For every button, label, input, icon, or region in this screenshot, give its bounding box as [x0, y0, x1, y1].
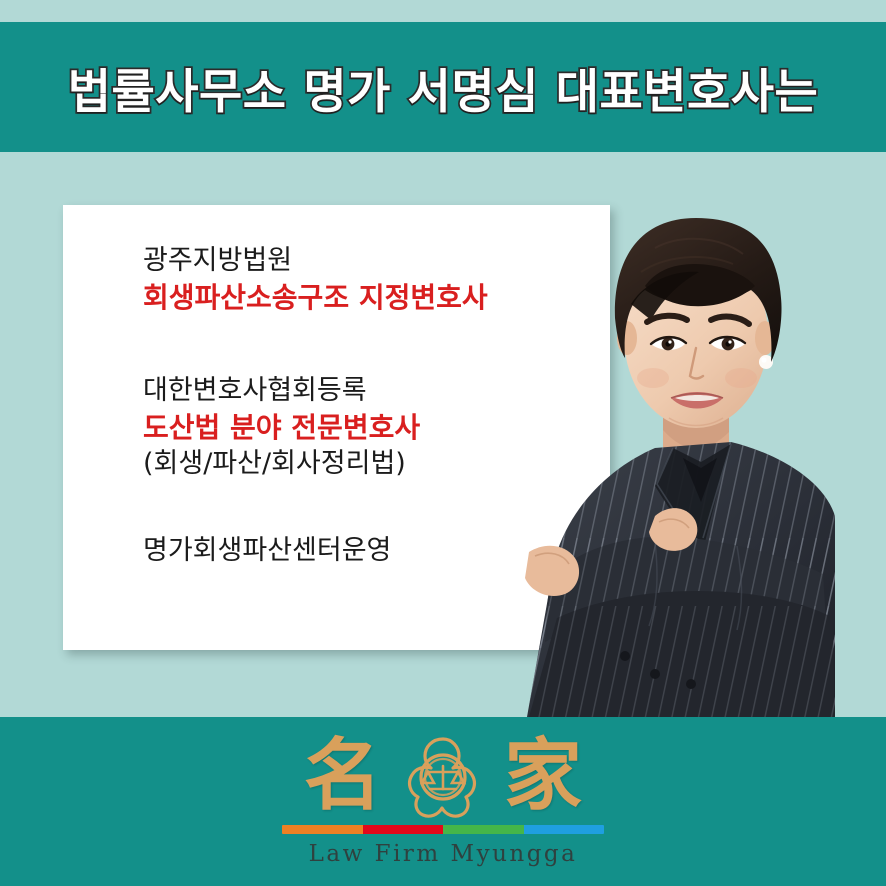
color-bar-segment-blue: [524, 825, 605, 834]
logo-marks: 名: [304, 731, 582, 821]
header-band: 법률사무소 명가 서명심 대표변호사는: [0, 22, 886, 152]
top-mint-strip: [0, 0, 886, 22]
poster: 법률사무소 명가 서명심 대표변호사는 광주지방법원 회생파산소송구조 지정변호…: [0, 0, 886, 886]
lawyer-portrait-photo: [505, 186, 886, 717]
page-title: 법률사무소 명가 서명심 대표변호사는: [68, 53, 818, 122]
brand-color-bar: [282, 825, 604, 834]
logo-char-myung: 名: [304, 737, 382, 815]
logo-char-ga: 家: [504, 737, 582, 815]
brand-logo: 名: [0, 731, 886, 867]
color-bar-segment-orange: [282, 825, 363, 834]
brand-subtitle: Law Firm Myungga: [309, 841, 578, 867]
color-bar-segment-red: [363, 825, 444, 834]
color-bar-segment-green: [443, 825, 524, 834]
scales-of-justice-flower-emblem: [400, 733, 486, 819]
footer-band: 名: [0, 717, 886, 886]
